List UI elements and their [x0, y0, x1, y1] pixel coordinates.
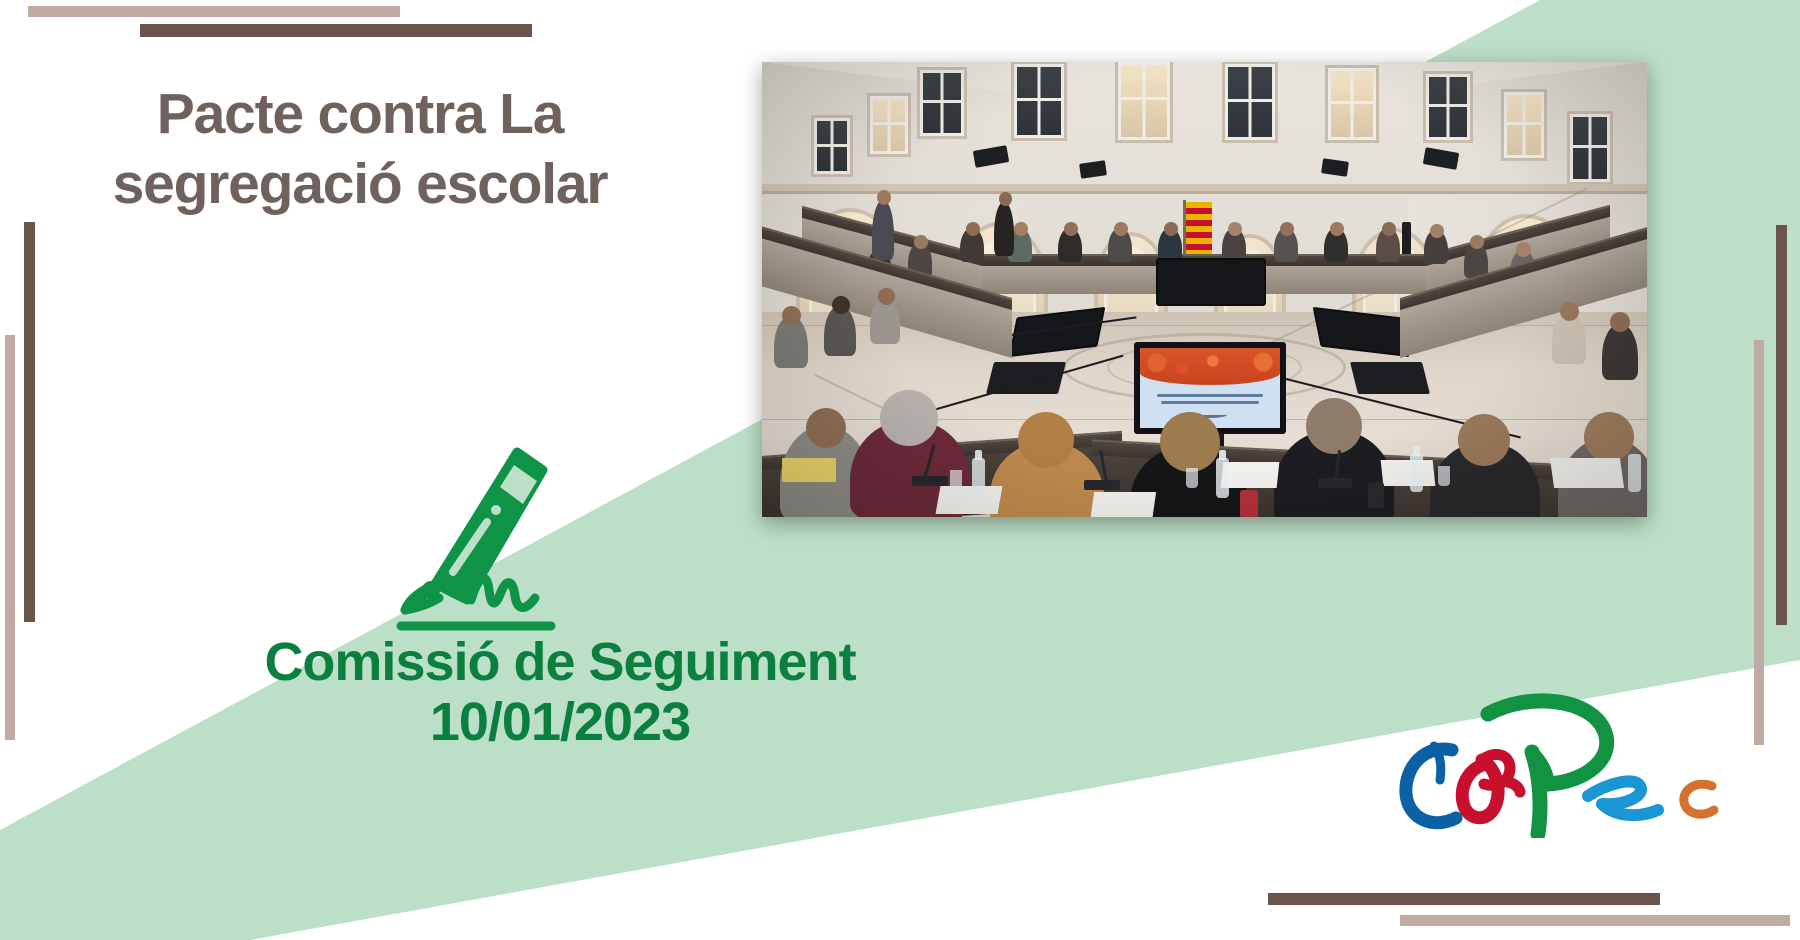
water-bottle-1	[972, 458, 985, 498]
subtitle-line-2: 10/01/2023	[60, 692, 1060, 752]
microphone-base-1	[912, 476, 948, 486]
microphone-base-3	[1318, 478, 1352, 488]
paper-4	[1381, 460, 1436, 486]
decor-bar-top-left-light	[28, 6, 400, 17]
attendee-midleft-head-3	[878, 288, 895, 305]
attendee-front-head-5	[1306, 398, 1362, 454]
decor-bar-right-light	[1754, 340, 1764, 745]
attendee-midright-2	[1602, 324, 1638, 380]
attendee-front-head-1	[806, 408, 846, 448]
decor-bar-left-light	[5, 335, 15, 740]
paper-yellow	[782, 458, 836, 482]
window-upper-5	[1328, 68, 1376, 140]
poster-subtitle: Comissió de Seguiment 10/01/2023	[60, 632, 1060, 753]
attendee-head-3	[1064, 222, 1078, 236]
standing-person-mid	[994, 202, 1014, 256]
glass-2	[1186, 468, 1198, 488]
water-bottle-neck-2	[1219, 450, 1226, 460]
standing-person-mid-head	[999, 192, 1012, 206]
window-upper-7	[1504, 92, 1544, 158]
logo-letter-e-lightblue	[1588, 781, 1658, 815]
attendee-midright-head-1	[1560, 302, 1579, 321]
attendee-midright-head-2	[1610, 312, 1630, 332]
decor-bar-left-dark	[24, 222, 35, 622]
decor-bar-bottom-right-light	[1400, 915, 1790, 926]
paper-5	[1550, 458, 1624, 488]
attendee-midleft-head-2	[832, 296, 850, 314]
attendee-front-head-2	[880, 390, 938, 446]
attendee-left-head-3	[914, 235, 928, 249]
paper-2	[1090, 492, 1156, 517]
logo-letter-c-orange	[1684, 784, 1714, 814]
window-upper-6	[1426, 74, 1470, 140]
floor-speaker-right	[1350, 362, 1430, 394]
microphone-base-2	[1084, 480, 1120, 490]
pen-signature-icon	[383, 432, 583, 632]
glass-3	[1438, 466, 1450, 486]
poster-title: Pacte contra La segregació escolar	[40, 80, 680, 219]
decor-bar-bottom-right-dark	[1268, 893, 1660, 905]
attendee-front-head-4	[1160, 412, 1220, 472]
window-upper-8	[1570, 114, 1610, 182]
subtitle-line-1: Comissió de Seguiment	[60, 632, 1060, 692]
attendee-head-5	[1164, 222, 1178, 236]
copec-logo	[1390, 688, 1750, 838]
glass-1	[950, 470, 962, 490]
title-line-1: Pacte contra La	[40, 80, 680, 150]
attendee-head-9	[1382, 222, 1396, 236]
attendee-front-head-7	[1584, 412, 1634, 462]
attendee-head-8	[1330, 222, 1344, 236]
phone-dark	[1368, 482, 1384, 508]
attendee-head-1	[966, 222, 980, 236]
attendee-head-7	[1280, 222, 1294, 236]
meeting-photo	[762, 62, 1647, 517]
water-bottle-4	[1628, 454, 1641, 492]
decor-bar-top-left-dark	[140, 24, 532, 37]
attendee-front-head-6	[1458, 414, 1510, 466]
attendee-head-2	[1014, 222, 1028, 236]
standing-person-left-head	[877, 190, 891, 205]
window-upper-4	[1225, 64, 1275, 140]
center-monitor	[1156, 258, 1266, 306]
attendee-right-head-1	[1470, 235, 1484, 249]
building-cornice-shadow	[762, 191, 1647, 194]
water-bottle-2	[1216, 458, 1229, 498]
attendee-midleft-head-1	[782, 306, 801, 325]
window-upper-10	[814, 118, 850, 174]
water-bottle-neck-3	[1413, 446, 1420, 456]
window-upper-1	[920, 70, 964, 136]
water-bottle-neck-1	[975, 450, 982, 460]
paper-3	[1221, 462, 1280, 488]
paper-1	[936, 486, 1003, 514]
poster-canvas: Pacte contra La segregació escolar	[0, 0, 1800, 940]
logo-letter-o-red	[1462, 754, 1520, 817]
decor-bar-right-dark	[1776, 225, 1787, 625]
window-upper-3	[1118, 62, 1170, 140]
attendee-head-10	[1430, 224, 1444, 238]
attendee-right-head-2	[1516, 242, 1531, 257]
attendee-head-4	[1114, 222, 1128, 236]
building-cornice	[762, 184, 1647, 191]
attendee-head-6	[1228, 222, 1242, 236]
phone-red-case	[1240, 490, 1258, 517]
title-line-2: segregació escolar	[40, 150, 680, 220]
attendee-front-head-3	[1018, 412, 1074, 468]
water-bottle-3	[1410, 454, 1423, 492]
window-upper-2	[1014, 64, 1064, 138]
standing-person-left	[872, 200, 894, 260]
window-upper-9	[870, 96, 908, 154]
logo-letter-c-blue	[1406, 746, 1456, 823]
meeting-photo-content	[762, 62, 1647, 517]
